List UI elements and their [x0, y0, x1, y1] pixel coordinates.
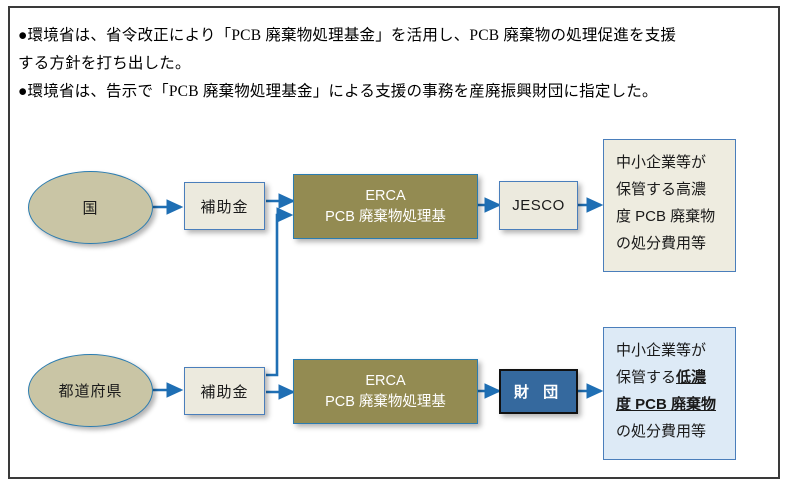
- node-erca-bottom[interactable]: ERCA PCB 廃棄物処理基: [293, 359, 478, 424]
- node-zaidan-label: 財 団: [514, 381, 563, 402]
- panel-high-line1: 中小企業等が: [616, 149, 706, 176]
- node-erca-top-line2: PCB 廃棄物処理基: [325, 207, 446, 228]
- node-erca-bottom-line2: PCB 廃棄物処理基: [325, 392, 446, 413]
- panel-low-line3: 度 PCB 廃棄物: [616, 391, 716, 418]
- panel-low-line2-emph: 低濃: [676, 369, 706, 386]
- node-jesco[interactable]: JESCO: [499, 181, 578, 230]
- node-kuni[interactable]: 国: [28, 171, 153, 244]
- node-todofuken[interactable]: 都道府県: [28, 354, 153, 427]
- panel-low-line2-plain: 保管する: [616, 369, 676, 386]
- panel-low-line4: の処分費用等: [616, 418, 706, 445]
- flow-diagram: 国 補助金 ERCA PCB 廃棄物処理基 JESCO 中小企業等が 保管する高…: [0, 0, 788, 488]
- panel-high-concentration[interactable]: 中小企業等が 保管する高濃 度 PCB 廃棄物 の処分費用等: [603, 139, 736, 272]
- node-subsidy-bottom[interactable]: 補助金: [184, 367, 265, 415]
- panel-low-line2: 保管する低濃: [616, 364, 706, 391]
- node-subsidy-top-label: 補助金: [200, 196, 248, 217]
- node-subsidy-top[interactable]: 補助金: [184, 182, 265, 230]
- node-jesco-label: JESCO: [512, 197, 565, 214]
- document-page: ●環境省は、省令改正により「PCB 廃棄物処理基金」を活用し、PCB 廃棄物の処…: [0, 0, 788, 488]
- panel-high-line2: 保管する高濃: [616, 176, 706, 203]
- node-kuni-label: 国: [82, 197, 98, 218]
- node-erca-bottom-line1: ERCA: [365, 371, 405, 392]
- node-erca-top[interactable]: ERCA PCB 廃棄物処理基: [293, 174, 478, 239]
- panel-low-line1: 中小企業等が: [616, 337, 706, 364]
- node-todofuken-label: 都道府県: [58, 380, 122, 401]
- panel-low-concentration[interactable]: 中小企業等が 保管する低濃 度 PCB 廃棄物 の処分費用等: [603, 327, 736, 460]
- panel-high-line3: 度 PCB 廃棄物: [616, 203, 715, 230]
- node-subsidy-bottom-label: 補助金: [200, 381, 248, 402]
- node-zaidan[interactable]: 財 団: [499, 369, 578, 414]
- node-erca-top-line1: ERCA: [365, 186, 405, 207]
- panel-high-line4: の処分費用等: [616, 230, 706, 257]
